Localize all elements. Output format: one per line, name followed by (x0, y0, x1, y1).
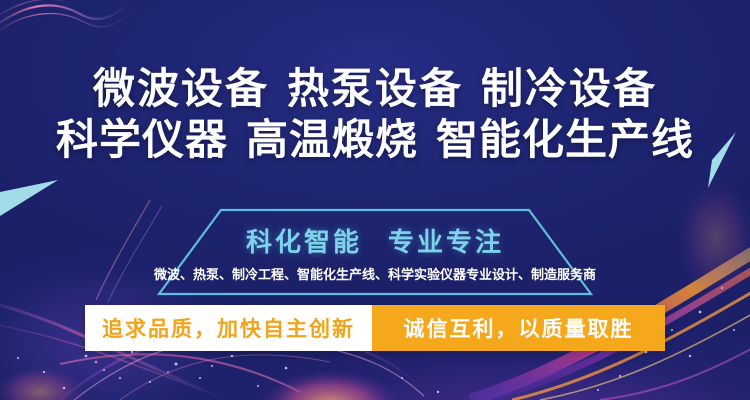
headline-line1-part2: 热泵设备 (287, 65, 463, 112)
descriptor-text: 微波、热泵、制冷工程、智能化生产线、科学实验仪器专业设计、制造服务商 (0, 264, 750, 283)
promo-banner: 微波设备热泵设备制冷设备 科学仪器高温煅烧智能化生产线 科化智能专业专注 微波、… (0, 0, 750, 400)
headline: 微波设备热泵设备制冷设备 科学仪器高温煅烧智能化生产线 (0, 66, 750, 163)
headline-line-2: 科学仪器高温煅烧智能化生产线 (0, 117, 750, 162)
slogan-bar-integrity-label: 诚信互利，以质量取胜 (404, 313, 634, 343)
slogan-bar-quality-label: 追求品质，加快自主创新 (102, 313, 355, 343)
headline-line2-part2: 高温煅烧 (246, 116, 418, 163)
headline-line-1: 微波设备热泵设备制冷设备 (0, 66, 750, 111)
triangle-left-icon (0, 176, 60, 220)
slogan-bar-quality: 追求品质，加快自主创新 (85, 305, 372, 351)
headline-line2-part1: 科学仪器 (56, 116, 228, 163)
headline-line1-part1: 微波设备 (93, 65, 269, 112)
headline-line2-part3: 智能化生产线 (436, 116, 694, 163)
subtitle: 科化智能专业专注 (0, 222, 750, 259)
subtitle-left: 科化智能 (246, 227, 362, 257)
slogan-bar-integrity: 诚信互利，以质量取胜 (372, 305, 665, 351)
subtitle-right: 专业专注 (388, 227, 504, 257)
slogan-bar-group: 追求品质，加快自主创新 诚信互利，以质量取胜 (85, 305, 665, 351)
headline-line1-part3: 制冷设备 (481, 65, 657, 112)
